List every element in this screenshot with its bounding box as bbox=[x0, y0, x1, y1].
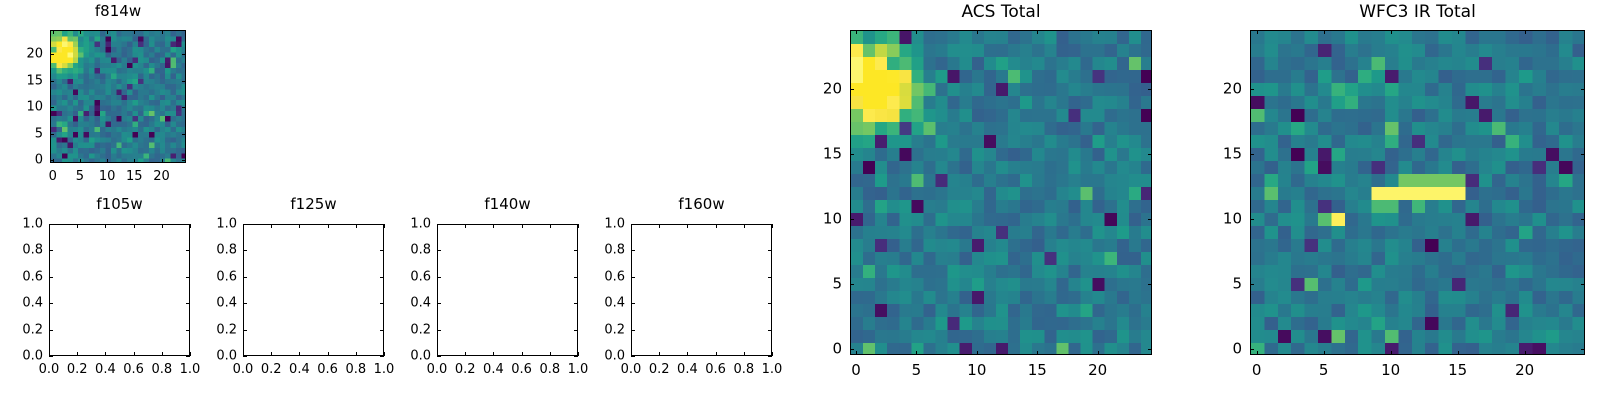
panel-title-wfc3-ir-total: WFC3 IR Total bbox=[1250, 4, 1585, 21]
x-tick-mark bbox=[1391, 351, 1392, 355]
panel-wfc3-ir-total: WFC3 IR Total0510152005101520 bbox=[0, 0, 1600, 400]
x-tick-label: 0 bbox=[1252, 363, 1262, 378]
x-tick-mark-top bbox=[1324, 30, 1325, 34]
y-tick-label: 0 bbox=[0, 341, 1242, 356]
y-tick-mark-right bbox=[1581, 219, 1585, 220]
y-tick-mark bbox=[1250, 284, 1254, 285]
x-tick-label: 15 bbox=[1448, 363, 1467, 378]
x-tick-mark bbox=[1324, 351, 1325, 355]
y-tick-mark-right bbox=[1581, 349, 1585, 350]
x-tick-mark-top bbox=[1257, 30, 1258, 34]
y-tick-mark bbox=[1250, 219, 1254, 220]
x-tick-mark-top bbox=[1458, 30, 1459, 34]
x-tick-label: 10 bbox=[1381, 363, 1400, 378]
y-tick-label: 15 bbox=[0, 146, 1242, 161]
x-tick-mark bbox=[1525, 351, 1526, 355]
x-tick-mark-top bbox=[1391, 30, 1392, 34]
matplotlib-figure: f814w0510152005101520f105w0.00.20.40.60.… bbox=[0, 0, 1600, 400]
axes-wfc3-ir-total[interactable] bbox=[1250, 30, 1585, 355]
heatmap-image bbox=[1251, 31, 1585, 355]
y-tick-label: 20 bbox=[0, 81, 1242, 96]
y-tick-mark bbox=[1250, 349, 1254, 350]
x-tick-mark bbox=[1458, 351, 1459, 355]
y-tick-label: 5 bbox=[0, 276, 1242, 291]
y-tick-mark bbox=[1250, 154, 1254, 155]
y-tick-mark-right bbox=[1581, 284, 1585, 285]
x-tick-label: 20 bbox=[1515, 363, 1534, 378]
y-tick-mark bbox=[1250, 89, 1254, 90]
y-tick-mark-right bbox=[1581, 89, 1585, 90]
y-tick-mark-right bbox=[1581, 154, 1585, 155]
x-tick-mark bbox=[1257, 351, 1258, 355]
x-tick-label: 5 bbox=[1319, 363, 1329, 378]
x-tick-mark-top bbox=[1525, 30, 1526, 34]
y-tick-label: 10 bbox=[0, 211, 1242, 226]
